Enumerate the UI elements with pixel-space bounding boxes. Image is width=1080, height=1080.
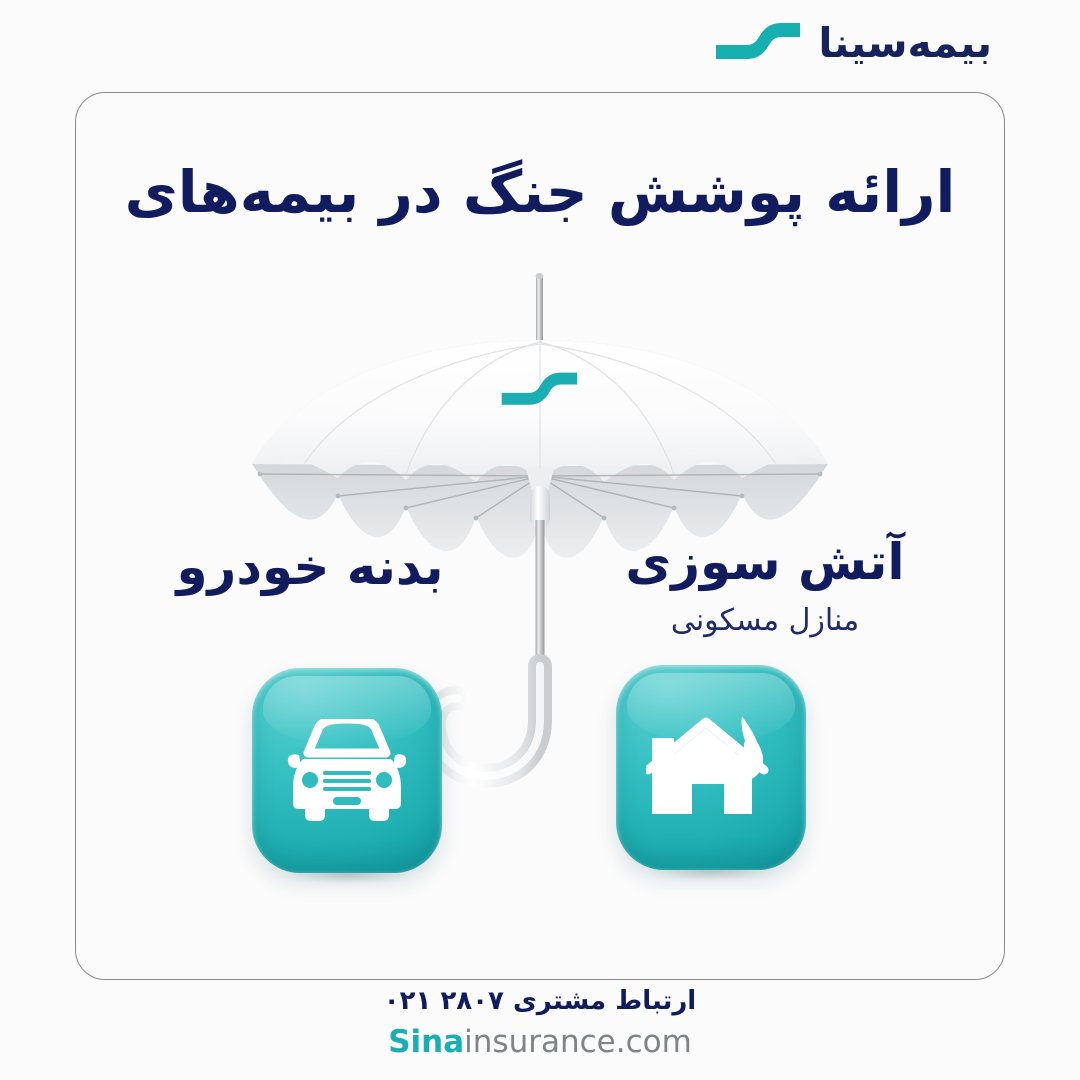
icon-tile-fire[interactable] xyxy=(616,665,806,880)
category-label-fire: آتش سوزی منازل مسکونی xyxy=(600,535,930,637)
website-domain-part: insurance.com xyxy=(464,1024,692,1060)
category-label-car-body: بدنه خودرو xyxy=(150,540,470,595)
j-hook-handle-icon xyxy=(434,666,540,776)
category-title: بدنه خودرو xyxy=(150,540,470,595)
category-title: آتش سوزی xyxy=(600,535,930,590)
tile-surface[interactable] xyxy=(616,665,806,870)
website-brand-part: Sina xyxy=(388,1024,464,1060)
brand-logo[interactable]: بیمه‌سینا xyxy=(712,18,992,68)
tile-surface[interactable] xyxy=(252,668,442,873)
footer: ارتباط مشتری ۲۸۰۷ ۰۲۱ Sinainsurance.com xyxy=(0,985,1080,1059)
website-url[interactable]: Sinainsurance.com xyxy=(0,1025,1080,1059)
customer-service-phone: ارتباط مشتری ۲۸۰۷ ۰۲۱ xyxy=(0,985,1080,1018)
icon-tile-car-body[interactable] xyxy=(252,668,442,883)
car-icon xyxy=(285,719,409,823)
house-fire-icon xyxy=(646,710,776,826)
brand-name: بیمه‌سینا xyxy=(818,23,992,64)
sina-swoosh-icon xyxy=(712,18,804,68)
page-title: ارائه پوشش جنگ در بیمه‌های xyxy=(100,158,980,226)
infographic-canvas: بیمه‌سینا ارائه پوشش جنگ در بیمه‌های xyxy=(0,0,1080,1080)
category-subtitle: منازل مسکونی xyxy=(600,604,930,637)
